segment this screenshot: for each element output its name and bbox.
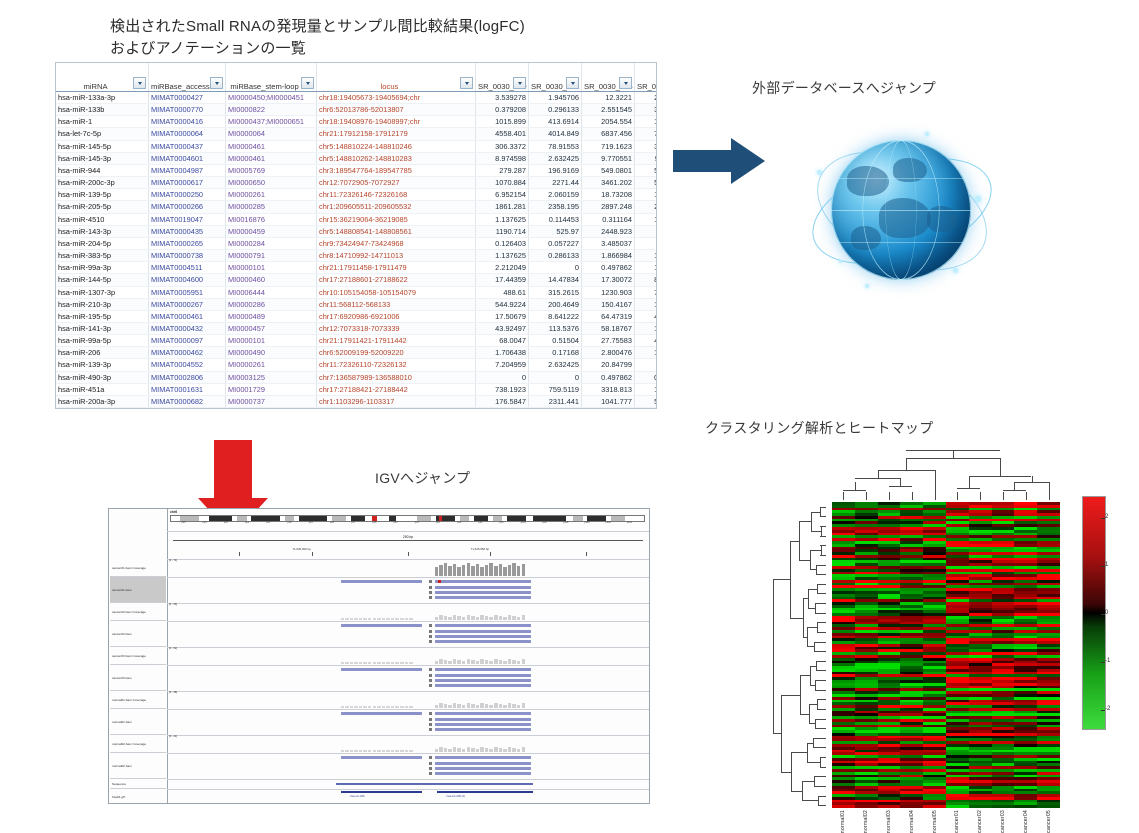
table-cell[interactable]: 306.3372 — [476, 140, 529, 152]
alignment-read[interactable] — [435, 674, 531, 677]
table-cell[interactable]: MIMAT0005951 — [149, 286, 226, 298]
table-cell[interactable]: hsa-miR-141-3p — [56, 322, 149, 334]
column-header-locus[interactable]: locus — [317, 63, 476, 92]
table-cell[interactable]: 0.497862 — [582, 408, 635, 409]
table-cell[interactable]: 17.30072 — [582, 274, 635, 286]
table-cell[interactable]: hsa-miR-145-3p — [56, 152, 149, 164]
table-cell[interactable]: MI0000286 — [226, 298, 317, 310]
table-cell[interactable]: chr6:52013786-52013807 — [317, 104, 476, 116]
table-row[interactable]: hsa-miR-200a-3pMIMAT0000682MI0000737chr1… — [56, 395, 657, 407]
table-cell[interactable]: MIMAT0000265 — [149, 237, 226, 249]
table-cell[interactable]: chr5:148810262-148810283 — [317, 152, 476, 164]
table-cell[interactable]: 0.296133 — [529, 104, 582, 116]
table-cell[interactable]: 196.9169 — [529, 164, 582, 176]
table-cell[interactable]: MI0006444 — [226, 286, 317, 298]
table-cell[interactable]: 2358.195 — [529, 201, 582, 213]
table-cell[interactable]: MIMAT0002806 — [149, 371, 226, 383]
filter-dropdown-icon[interactable] — [210, 77, 223, 89]
table-row[interactable]: hsa-miR-1MIMAT0000416MI0000437;MI0000651… — [56, 116, 657, 128]
table-cell[interactable]: 64.47319 — [582, 310, 635, 322]
alignment-read[interactable] — [435, 580, 531, 583]
table-cell[interactable]: 1.137625 — [476, 250, 529, 262]
column-header-sr009[interactable]: SR_0030_009 — [476, 63, 529, 92]
table-cell[interactable]: hsa-miR-143-3p — [56, 225, 149, 237]
table-row[interactable]: hsa-miR-204-5pMIMAT0000265MI0000284chr9:… — [56, 237, 657, 249]
igv-track-label[interactable]: normal01.bam Coverage — [110, 691, 166, 709]
table-cell[interactable]: hsa-miR-206 — [56, 347, 149, 359]
table-cell[interactable]: 525.97 — [529, 225, 582, 237]
mirna-table-panel[interactable]: miRNA miRBase_accession miRBase_stem-loo… — [55, 62, 657, 409]
table-cell[interactable]: MI0000460 — [226, 274, 317, 286]
table-cell[interactable]: 2.212049 — [476, 262, 529, 274]
table-cell[interactable]: 20.84799 — [582, 359, 635, 371]
table-row[interactable]: hsa-miR-944MIMAT0004987MI0005769chr3:189… — [56, 164, 657, 176]
table-cell[interactable]: 2.632425 — [529, 359, 582, 371]
table-cell[interactable]: 315.2615 — [529, 286, 582, 298]
column-header-mirna[interactable]: miRNA — [56, 63, 149, 92]
table-cell[interactable]: 113.5376 — [529, 322, 582, 334]
igv-track-label[interactable]: cancer01.bam Coverage — [110, 559, 166, 577]
filter-dropdown-icon[interactable] — [460, 77, 473, 89]
alignment-read[interactable] — [435, 640, 531, 643]
table-cell[interactable]: MIMAT0019047 — [149, 213, 226, 225]
table-cell[interactable]: 12.3221 — [582, 92, 635, 104]
table-cell[interactable]: chr8:14710992-14711013 — [317, 250, 476, 262]
table-cell[interactable]: chr17:6920986-6921006 — [317, 310, 476, 322]
table-cell[interactable]: chr18:19408976-19408997;chr — [317, 116, 476, 128]
table-cell[interactable]: chr21:17911421-17911442 — [317, 335, 476, 347]
table-cell[interactable]: MIMAT0000770 — [149, 104, 226, 116]
table-cell[interactable]: hsa-miR-133a-5p — [56, 408, 149, 409]
table-cell[interactable]: 0.114453 — [529, 213, 582, 225]
alignment-read[interactable] — [435, 767, 531, 770]
gene-feature[interactable] — [341, 791, 423, 793]
table-cell[interactable]: 0.286133 — [529, 250, 582, 262]
heatmap-grid[interactable] — [832, 502, 1060, 808]
gene-feature[interactable] — [437, 791, 533, 793]
table-cell[interactable]: 131.8162 — [635, 298, 658, 310]
table-cell[interactable]: 549.0801 — [582, 164, 635, 176]
table-row[interactable]: hsa-miR-200c-3pMIMAT0000617MI0000650chr1… — [56, 177, 657, 189]
table-cell[interactable]: MIMAT0000738 — [149, 250, 226, 262]
table-row[interactable]: hsa-miR-1307-3pMIMAT0005951MI0006444chr1… — [56, 286, 657, 298]
table-cell[interactable]: chr18:19405673-19405694;chr — [317, 92, 476, 104]
igv-track-row[interactable]: [0 - 41] — [167, 735, 649, 754]
table-row[interactable]: hsa-miR-143-3pMIMAT0000435MI0000459chr5:… — [56, 225, 657, 237]
table-row[interactable]: hsa-miR-145-3pMIMAT0004601MI0000461chr5:… — [56, 152, 657, 164]
alignment-read[interactable] — [341, 756, 423, 759]
table-cell[interactable]: 488.61 — [476, 286, 529, 298]
table-cell[interactable]: 0 — [529, 408, 582, 409]
table-cell[interactable]: chr17:27188421-27188442 — [317, 383, 476, 395]
table-cell[interactable]: MI0000791 — [226, 250, 317, 262]
filter-dropdown-icon[interactable] — [133, 77, 146, 89]
table-cell[interactable]: chr10:105154058-105154079 — [317, 286, 476, 298]
filter-dropdown-icon[interactable] — [619, 77, 632, 89]
table-cell[interactable]: 43.92497 — [476, 322, 529, 334]
table-cell[interactable]: 759.5119 — [529, 383, 582, 395]
table-row[interactable]: hsa-let-7c-5pMIMAT0000064MI0000064chr21:… — [56, 128, 657, 140]
table-cell[interactable]: 1190.714 — [476, 225, 529, 237]
table-cell[interactable]: hsa-miR-205-5p — [56, 201, 149, 213]
igv-track-row[interactable] — [167, 665, 649, 692]
table-cell[interactable]: MI0000461 — [226, 140, 317, 152]
table-cell[interactable]: 567.1338 — [635, 164, 658, 176]
filter-dropdown-icon[interactable] — [513, 77, 526, 89]
table-cell[interactable]: 1.706438 — [476, 347, 529, 359]
table-cell[interactable]: MIMAT0000267 — [149, 298, 226, 310]
table-cell[interactable]: 2897.248 — [582, 201, 635, 213]
table-cell[interactable]: 6837.456 — [582, 128, 635, 140]
table-cell[interactable]: hsa-miR-383-5p — [56, 250, 149, 262]
table-cell[interactable]: 3.539278 — [476, 92, 529, 104]
table-cell[interactable]: MI0000490 — [226, 347, 317, 359]
table-cell[interactable]: 0.126403 — [476, 237, 529, 249]
table-cell[interactable]: 0 — [476, 408, 529, 409]
table-cell[interactable]: MIMAT0000064 — [149, 128, 226, 140]
table-cell[interactable]: MI0000457 — [226, 322, 317, 334]
table-cell[interactable]: chr12:7073318-7073339 — [317, 322, 476, 334]
table-cell[interactable]: 0 — [529, 371, 582, 383]
table-cell[interactable]: MIMAT0000682 — [149, 395, 226, 407]
igv-gene-track[interactable]: hsa-mir-206hsa-mir-206 (2) — [167, 789, 649, 804]
column-header-stem-loop[interactable]: miRBase_stem-loop — [226, 63, 317, 92]
table-cell[interactable]: hsa-miR-99a-3p — [56, 262, 149, 274]
table-cell[interactable]: 2418.537 — [635, 201, 658, 213]
igv-track-row[interactable] — [167, 577, 649, 604]
table-cell[interactable]: 1015.899 — [476, 116, 529, 128]
table-cell[interactable]: 1230.903 — [582, 286, 635, 298]
igv-ideogram[interactable] — [170, 515, 645, 522]
table-cell[interactable]: chr1:1103296-1103317 — [317, 395, 476, 407]
table-cell[interactable]: 0.497862 — [582, 262, 635, 274]
table-cell[interactable]: 1.526092 — [635, 262, 658, 274]
table-cell[interactable]: hsa-let-7c-5p — [56, 128, 149, 140]
table-cell[interactable]: chr11:568112-568133 — [317, 298, 476, 310]
table-cell[interactable]: MIMAT0004601 — [149, 152, 226, 164]
table-row[interactable]: hsa-miR-144-5pMIMAT0004600MI0000460chr17… — [56, 274, 657, 286]
table-cell[interactable]: chr18:19405710-19405731;chr — [317, 408, 476, 409]
table-cell[interactable]: MI0005769 — [226, 164, 317, 176]
table-cell[interactable]: MIMAT0004987 — [149, 164, 226, 176]
table-cell[interactable]: MI0000261 — [226, 359, 317, 371]
table-cell[interactable]: MIMAT0004600 — [149, 274, 226, 286]
table-cell[interactable]: MIMAT0000461 — [149, 310, 226, 322]
table-cell[interactable]: hsa-miR-145-5p — [56, 140, 149, 152]
igv-track-row[interactable]: [0 - 52] — [167, 647, 649, 666]
table-cell[interactable]: MI0000461 — [226, 152, 317, 164]
table-cell[interactable]: 8.974598 — [476, 152, 529, 164]
table-row[interactable]: hsa-miR-490-3pMIMAT0002806MI0003125chr7:… — [56, 371, 657, 383]
table-cell[interactable]: MI0000437;MI0000651 — [226, 116, 317, 128]
table-row[interactable]: hsa-miR-133a-5pMIMAT0026478MI0000450;MI0… — [56, 408, 657, 409]
igv-track-row[interactable] — [167, 621, 649, 648]
igv-track-label[interactable]: cancer03.bam Coverage — [110, 647, 166, 665]
table-cell[interactable]: 6.952154 — [476, 189, 529, 201]
table-cell[interactable]: 7.204959 — [476, 359, 529, 371]
table-cell[interactable]: MI0001729 — [226, 383, 317, 395]
table-cell[interactable]: MIMAT0000097 — [149, 335, 226, 347]
table-row[interactable]: hsa-miR-141-3pMIMAT0000432MI0000457chr12… — [56, 322, 657, 334]
table-cell[interactable]: 5675.789 — [635, 177, 658, 189]
table-cell[interactable]: MIMAT0004552 — [149, 359, 226, 371]
table-cell[interactable]: 0 — [529, 262, 582, 274]
alignment-read[interactable] — [435, 756, 531, 759]
table-cell[interactable]: MI0000261 — [226, 189, 317, 201]
table-cell[interactable]: 1347.92 — [635, 225, 658, 237]
table-cell[interactable]: hsa-miR-1307-3p — [56, 286, 149, 298]
table-row[interactable]: hsa-miR-451aMIMAT0001631MI0001729chr17:2… — [56, 383, 657, 395]
table-row[interactable]: hsa-miR-99a-3pMIMAT0004511MI0000101chr21… — [56, 262, 657, 274]
table-cell[interactable]: MI0000101 — [226, 335, 317, 347]
table-cell[interactable]: MI0000489 — [226, 310, 317, 322]
table-cell[interactable]: 2448.923 — [582, 225, 635, 237]
table-cell[interactable]: 1.716853 — [635, 250, 658, 262]
table-cell[interactable]: MI0000822 — [226, 104, 317, 116]
table-cell[interactable]: hsa-miR-1 — [56, 116, 149, 128]
alignment-read[interactable] — [435, 668, 531, 671]
table-cell[interactable]: 0.311164 — [582, 213, 635, 225]
table-cell[interactable]: 2271.44 — [529, 177, 582, 189]
table-cell[interactable]: MI0000737 — [226, 395, 317, 407]
alignment-read[interactable] — [435, 684, 531, 687]
table-cell[interactable]: chr3:189547764-189547785 — [317, 164, 476, 176]
alignment-read[interactable] — [435, 728, 531, 731]
table-cell[interactable]: 0 — [476, 371, 529, 383]
alignment-read[interactable] — [341, 624, 423, 627]
table-row[interactable]: hsa-miR-99a-5pMIMAT0000097MI0000101chr21… — [56, 335, 657, 347]
table-cell[interactable]: 0.497862 — [582, 371, 635, 383]
table-row[interactable]: hsa-miR-195-5pMIMAT0000461MI0000489chr17… — [56, 310, 657, 322]
table-cell[interactable]: MIMAT0000427 — [149, 92, 226, 104]
table-cell[interactable]: 2.551545 — [582, 104, 635, 116]
table-cell[interactable]: MI0000450;MI0000451 — [226, 408, 317, 409]
table-cell[interactable]: 3318.813 — [582, 383, 635, 395]
table-cell[interactable]: 8.641222 — [529, 310, 582, 322]
alignment-read[interactable] — [435, 762, 531, 765]
table-cell[interactable]: MI0000285 — [226, 201, 317, 213]
table-cell[interactable]: chr6:52009199-52009220 — [317, 347, 476, 359]
table-cell[interactable]: 0.127174 — [635, 408, 658, 409]
table-cell[interactable]: MIMAT0026478 — [149, 408, 226, 409]
table-cell[interactable]: 2311.441 — [529, 395, 582, 407]
column-header-sr016[interactable]: SR_0030_016 — [582, 63, 635, 92]
table-cell[interactable]: 0.057227 — [529, 237, 582, 249]
table-cell[interactable]: 2.800476 — [582, 347, 635, 359]
column-header-accession[interactable]: miRBase_accession — [149, 63, 226, 92]
table-cell[interactable]: MIMAT0000462 — [149, 347, 226, 359]
table-cell[interactable]: chr17:27188601-27188622 — [317, 274, 476, 286]
alignment-read[interactable] — [435, 679, 531, 682]
table-cell[interactable]: 78.91553 — [529, 140, 582, 152]
igv-track-label[interactable]: cancer03.bam — [110, 665, 166, 691]
table-cell[interactable]: MIMAT0000416 — [149, 116, 226, 128]
table-cell[interactable]: 1058.917 — [635, 383, 658, 395]
igv-gene-track-label[interactable]: hsa01.gff — [110, 789, 166, 804]
table-row[interactable]: hsa-miR-206MIMAT0000462MI0000490chr6:520… — [56, 347, 657, 359]
table-cell[interactable]: chr21:17912158-17912179 — [317, 128, 476, 140]
table-cell[interactable]: 150.4167 — [582, 298, 635, 310]
igv-track-label[interactable]: normal02.bam Coverage — [110, 735, 166, 753]
table-row[interactable]: hsa-miR-4510MIMAT0019047MI0016876chr15:3… — [56, 213, 657, 225]
table-cell[interactable]: 7003.997 — [635, 128, 658, 140]
igv-track-label[interactable]: cancer02.bam — [110, 621, 166, 647]
table-cell[interactable]: 719.1623 — [582, 140, 635, 152]
table-cell[interactable]: MIMAT0001631 — [149, 383, 226, 395]
igv-track-row[interactable]: [0 - 38] — [167, 691, 649, 710]
table-cell[interactable]: 14.47834 — [529, 274, 582, 286]
igv-track-label[interactable]: cancer02.bam Coverage — [110, 603, 166, 621]
table-cell[interactable]: 1.971202 — [635, 347, 658, 359]
table-cell[interactable]: MI0016876 — [226, 213, 317, 225]
table-cell[interactable]: chr1:209605511-209605532 — [317, 201, 476, 213]
table-row[interactable]: hsa-miR-133a-3pMIMAT0000427MI0000450;MI0… — [56, 92, 657, 104]
table-cell[interactable]: hsa-miR-139-3p — [56, 359, 149, 371]
table-cell[interactable]: MIMAT0000435 — [149, 225, 226, 237]
table-cell[interactable]: MI0000284 — [226, 237, 317, 249]
table-cell[interactable]: 1.78044 — [635, 237, 658, 249]
table-cell[interactable]: 738.1923 — [476, 383, 529, 395]
igv-sequence-track-label[interactable]: Sequence — [110, 779, 166, 789]
table-cell[interactable]: 2.060159 — [529, 189, 582, 201]
table-cell[interactable]: 176.5847 — [476, 395, 529, 407]
alignment-read[interactable] — [435, 586, 531, 589]
table-cell[interactable]: 279.287 — [476, 164, 529, 176]
igv-ideogram-row[interactable]: chr6 — [167, 509, 649, 532]
table-cell[interactable]: hsa-miR-4510 — [56, 213, 149, 225]
table-cell[interactable]: 200.4649 — [529, 298, 582, 310]
table-cell[interactable]: 0.381523 — [635, 371, 658, 383]
table-cell[interactable]: 1861.281 — [476, 201, 529, 213]
table-cell[interactable]: MI0000450;MI0000451 — [226, 92, 317, 104]
table-cell[interactable]: hsa-miR-490-3p — [56, 371, 149, 383]
alignment-read[interactable] — [435, 591, 531, 594]
table-cell[interactable]: MI0003125 — [226, 371, 317, 383]
igv-track-row[interactable] — [167, 753, 649, 780]
table-row[interactable]: hsa-miR-139-3pMIMAT0004552MI0000261chr11… — [56, 359, 657, 371]
alignment-read[interactable] — [435, 772, 531, 775]
table-cell[interactable]: 68.0047 — [476, 335, 529, 347]
table-cell[interactable]: hsa-miR-133b — [56, 104, 149, 116]
table-cell[interactable]: MIMAT0000432 — [149, 322, 226, 334]
table-cell[interactable]: 18.8218 — [635, 359, 658, 371]
table-cell[interactable]: 19.39408 — [635, 189, 658, 201]
igv-track-row[interactable] — [167, 709, 649, 736]
table-cell[interactable]: hsa-miR-451a — [56, 383, 149, 395]
table-cell[interactable]: MI0000459 — [226, 225, 317, 237]
igv-track-data-column[interactable]: chr6 — [167, 509, 649, 803]
table-cell[interactable]: 20.34789 — [635, 92, 658, 104]
table-cell[interactable]: 1041.777 — [582, 395, 635, 407]
alignment-read[interactable] — [435, 624, 531, 627]
alignment-read[interactable] — [435, 718, 531, 721]
alignment-read[interactable] — [435, 596, 531, 599]
table-cell[interactable]: MI0000101 — [226, 262, 317, 274]
table-cell[interactable]: chr12:7072905-7072927 — [317, 177, 476, 189]
alignment-read[interactable] — [435, 723, 531, 726]
alignment-read[interactable] — [341, 668, 423, 671]
table-cell[interactable]: 1434.399 — [635, 116, 658, 128]
column-header-sr012[interactable]: SR_0030_012 — [529, 63, 582, 92]
table-cell[interactable]: 18.73208 — [582, 189, 635, 201]
table-cell[interactable]: 17.50679 — [476, 310, 529, 322]
table-cell[interactable]: 0.17168 — [529, 347, 582, 359]
table-cell[interactable]: hsa-miR-204-5p — [56, 237, 149, 249]
table-cell[interactable]: MIMAT0000617 — [149, 177, 226, 189]
table-cell[interactable]: 370.0772 — [635, 140, 658, 152]
table-cell[interactable]: 413.6914 — [529, 116, 582, 128]
table-cell[interactable]: hsa-miR-99a-5p — [56, 335, 149, 347]
table-row[interactable]: hsa-miR-205-5pMIMAT0000266MI0000285chr1:… — [56, 201, 657, 213]
table-cell[interactable]: chr11:72326146-72326168 — [317, 189, 476, 201]
table-cell[interactable]: hsa-miR-133a-3p — [56, 92, 149, 104]
table-cell[interactable]: 0.51504 — [529, 335, 582, 347]
table-cell[interactable]: MIMAT0000266 — [149, 201, 226, 213]
table-cell[interactable]: MI0000064 — [226, 128, 317, 140]
table-cell[interactable]: 738.1832 — [635, 286, 658, 298]
table-cell[interactable]: chr7:136587989-136588010 — [317, 371, 476, 383]
filter-dropdown-icon[interactable] — [301, 77, 314, 89]
table-cell[interactable]: MIMAT0000437 — [149, 140, 226, 152]
table-cell[interactable]: 1.866984 — [582, 250, 635, 262]
igv-track-label[interactable]: cancer01.bam — [110, 577, 166, 603]
table-cell[interactable]: 3.485037 — [582, 237, 635, 249]
table-cell[interactable]: 1.137625 — [476, 213, 529, 225]
table-cell[interactable]: chr5:148810224-148810246 — [317, 140, 476, 152]
alignment-read[interactable] — [435, 635, 531, 638]
table-cell[interactable]: 9.770551 — [582, 152, 635, 164]
table-cell[interactable]: 44.57459 — [635, 335, 658, 347]
table-cell[interactable]: 4558.401 — [476, 128, 529, 140]
igv-track-row[interactable]: [0 - 74] — [167, 559, 649, 578]
table-cell[interactable]: MIMAT0004511 — [149, 262, 226, 274]
igv-track-row[interactable]: [0 - 45] — [167, 603, 649, 622]
table-row[interactable]: hsa-miR-133bMIMAT0000770MI0000822chr6:52… — [56, 104, 657, 116]
table-cell[interactable]: 2054.554 — [582, 116, 635, 128]
table-cell[interactable]: chr11:72326110-72326132 — [317, 359, 476, 371]
table-cell[interactable]: 1070.884 — [476, 177, 529, 189]
alignment-read[interactable] — [341, 712, 423, 715]
igv-track-label[interactable]: normal02.bam — [110, 753, 166, 779]
table-cell[interactable]: hsa-miR-944 — [56, 164, 149, 176]
alignment-read[interactable] — [435, 712, 531, 715]
table-cell[interactable]: 2.632425 — [529, 152, 582, 164]
igv-browser-panel[interactable]: cancer01.bam Coveragecancer01.bamcancer0… — [108, 508, 650, 804]
table-cell[interactable]: hsa-miR-139-5p — [56, 189, 149, 201]
table-cell[interactable]: 0.379208 — [476, 104, 529, 116]
table-cell[interactable]: 3.624468 — [635, 104, 658, 116]
table-cell[interactable]: hsa-miR-144-5p — [56, 274, 149, 286]
heatmap-panel[interactable]: normal01normal02normal03normal04normal05… — [730, 448, 1130, 808]
table-cell[interactable]: 1.945706 — [529, 92, 582, 104]
table-cell[interactable]: chr9:73424947-73424968 — [317, 237, 476, 249]
table-cell[interactable]: 571.5213 — [635, 395, 658, 407]
filter-dropdown-icon[interactable] — [566, 77, 579, 89]
table-cell[interactable]: 3461.202 — [582, 177, 635, 189]
table-cell[interactable]: chr15:36219064-36219085 — [317, 213, 476, 225]
table-cell[interactable]: 8.965788 — [635, 274, 658, 286]
igv-track-label[interactable]: normal01.bam — [110, 709, 166, 735]
alignment-read[interactable] — [435, 630, 531, 633]
table-row[interactable]: hsa-miR-145-5pMIMAT0000437MI0000461chr5:… — [56, 140, 657, 152]
table-cell[interactable]: chr5:148808541-148808561 — [317, 225, 476, 237]
table-cell[interactable]: 17.44359 — [476, 274, 529, 286]
table-cell[interactable]: 9.347311 — [635, 152, 658, 164]
table-cell[interactable]: 1.271743 — [635, 213, 658, 225]
table-cell[interactable]: chr21:17911458-17911479 — [317, 262, 476, 274]
table-cell[interactable]: hsa-miR-200c-3p — [56, 177, 149, 189]
table-cell[interactable]: hsa-miR-210-3p — [56, 298, 149, 310]
